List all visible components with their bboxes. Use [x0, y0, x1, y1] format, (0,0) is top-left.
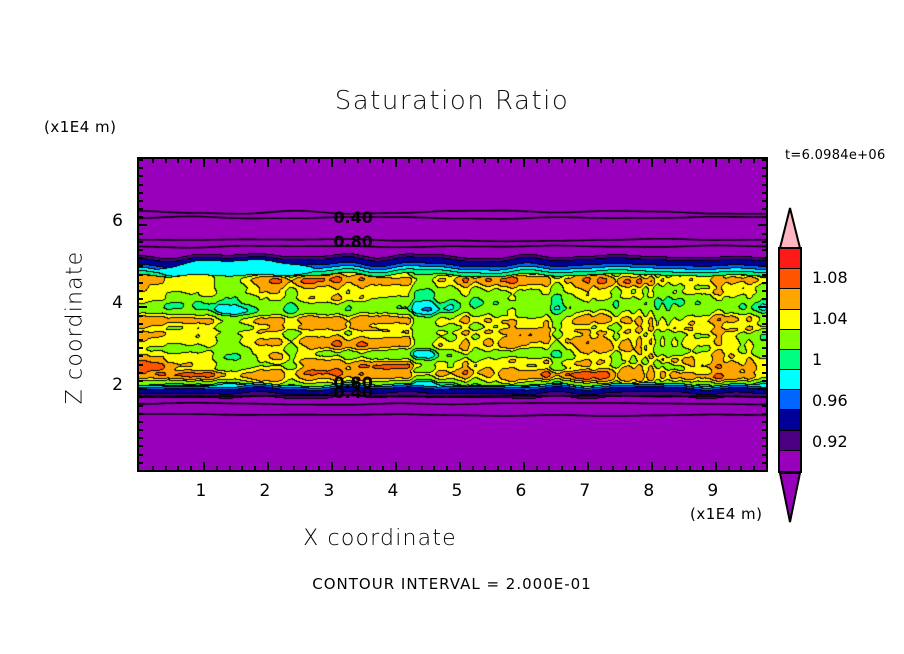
y-tick [762, 257, 767, 259]
y-tick [138, 175, 143, 177]
x-tick [766, 466, 768, 471]
x-tick [689, 466, 691, 471]
y-tick [138, 355, 143, 357]
x-tick [395, 462, 397, 471]
y-tick [762, 175, 767, 177]
colorbar-tick-label: 1.04 [812, 309, 848, 328]
x-tick-label: 6 [501, 481, 541, 501]
x-tick [523, 462, 525, 471]
y-tick [138, 437, 143, 439]
x-tick [318, 158, 320, 163]
x-tick [446, 158, 448, 163]
y-tick [762, 159, 767, 161]
x-tick [612, 158, 614, 163]
x-tick [459, 462, 461, 471]
y-tick [762, 364, 767, 366]
y-tick [138, 364, 143, 366]
y-tick [762, 290, 767, 292]
colorbar-over-arrow [778, 207, 802, 247]
x-tick [574, 466, 576, 471]
y-tick [138, 290, 143, 292]
x-tick [293, 158, 295, 163]
y-tick [762, 233, 767, 235]
colorbar-tick-label: 0.96 [812, 391, 848, 410]
y-tick [138, 200, 143, 202]
y-tick [138, 405, 143, 407]
colorbar-band [780, 431, 800, 451]
page-title: Saturation Ratio [0, 86, 904, 116]
x-tick [152, 158, 154, 163]
x-tick [421, 158, 423, 163]
x-tick [152, 466, 154, 471]
contour-interval-caption: CONTOUR INTERVAL = 2.000E-01 [0, 575, 904, 593]
y-tick [138, 396, 143, 398]
x-tick [190, 158, 192, 163]
x-tick [561, 158, 563, 163]
contour-plot-area[interactable]: 0.400.800.800.40 [137, 157, 768, 472]
x-tick [369, 466, 371, 471]
x-tick [753, 466, 755, 471]
x-axis-units-label: (x1E4 m) [690, 505, 763, 523]
x-tick [357, 466, 359, 471]
y-tick [762, 323, 767, 325]
x-tick [203, 462, 205, 471]
y-tick [762, 167, 767, 169]
y-tick [138, 233, 143, 235]
x-tick [728, 466, 730, 471]
y-tick [138, 216, 143, 218]
x-tick [497, 466, 499, 471]
x-tick [536, 158, 538, 163]
x-tick [587, 158, 589, 167]
x-tick [523, 158, 525, 167]
colorbar-band [780, 249, 800, 269]
y-tick [138, 413, 143, 415]
x-tick [638, 158, 640, 163]
x-tick [229, 466, 231, 471]
x-tick [382, 466, 384, 471]
y-tick [138, 380, 143, 382]
x-tick [216, 158, 218, 163]
y-tick [138, 224, 147, 226]
x-tick [715, 462, 717, 471]
y-tick [762, 437, 767, 439]
colorbar-band [780, 289, 800, 309]
x-tick [472, 466, 474, 471]
y-tick [762, 274, 767, 276]
over-arrow-icon [778, 207, 802, 249]
x-tick [331, 158, 333, 167]
x-tick [497, 158, 499, 163]
x-tick [715, 158, 717, 167]
y-tick [762, 249, 767, 251]
y-tick [138, 323, 143, 325]
x-tick [753, 158, 755, 163]
x-tick-label: 2 [245, 481, 285, 501]
x-tick [548, 466, 550, 471]
y-tick [138, 184, 143, 186]
y-tick [762, 372, 767, 374]
y-tick [762, 405, 767, 407]
x-tick [165, 158, 167, 163]
x-tick [664, 466, 666, 471]
y-tick [138, 298, 143, 300]
x-tick [190, 466, 192, 471]
y-tick [138, 429, 143, 431]
x-tick [318, 466, 320, 471]
y-tick [762, 315, 767, 317]
y-tick [762, 347, 767, 349]
colorbar-tick-label: 0.92 [812, 432, 848, 451]
y-tick-label: 6 [95, 211, 123, 231]
saturation-field-heatmap [139, 159, 766, 470]
x-tick-label: 5 [437, 481, 477, 501]
y-tick [138, 274, 143, 276]
x-tick [369, 158, 371, 163]
x-tick [766, 158, 768, 163]
x-tick [241, 466, 243, 471]
y-tick [762, 241, 767, 243]
y-tick [138, 257, 143, 259]
y-tick [762, 331, 767, 333]
x-tick [267, 462, 269, 471]
y-tick [762, 298, 767, 300]
x-tick [472, 158, 474, 163]
x-tick [433, 158, 435, 163]
y-tick [762, 429, 767, 431]
y-tick [138, 282, 143, 284]
x-axis-title: X coordinate [0, 526, 760, 551]
x-tick [638, 466, 640, 471]
x-tick [484, 158, 486, 163]
y-tick [138, 454, 143, 456]
x-tick [229, 158, 231, 163]
x-tick [305, 158, 307, 163]
x-tick [357, 158, 359, 163]
y-tick [138, 339, 143, 341]
contour-value-label: 0.80 [333, 232, 372, 251]
x-tick [600, 158, 602, 163]
x-tick [548, 158, 550, 163]
x-tick [574, 158, 576, 163]
x-tick [510, 466, 512, 471]
colorbar-bands [778, 247, 802, 473]
x-tick [561, 466, 563, 471]
y-axis-units-label: (x1E4 m) [44, 118, 117, 136]
y-tick [762, 413, 767, 415]
x-tick [433, 466, 435, 471]
y-tick [762, 462, 767, 464]
x-tick-label: 1 [181, 481, 221, 501]
x-tick [408, 158, 410, 163]
y-tick [138, 249, 143, 251]
x-tick [740, 158, 742, 163]
y-tick [762, 216, 767, 218]
colorbar-band [780, 330, 800, 350]
x-tick [689, 158, 691, 163]
x-tick [446, 466, 448, 471]
x-tick [676, 466, 678, 471]
y-tick-label: 4 [95, 293, 123, 313]
y-tick [758, 388, 767, 390]
y-tick [762, 192, 767, 194]
x-tick [740, 466, 742, 471]
y-tick [138, 208, 143, 210]
y-tick [762, 208, 767, 210]
x-tick [280, 466, 282, 471]
x-tick [216, 466, 218, 471]
colorbar-tick-label: 1 [812, 350, 822, 369]
x-tick [459, 158, 461, 167]
x-tick-label: 7 [565, 481, 605, 501]
y-tick [762, 454, 767, 456]
y-tick [138, 347, 143, 349]
contour-value-label: 0.40 [333, 383, 372, 402]
colorbar-band [780, 269, 800, 289]
x-tick [344, 158, 346, 163]
colorbar-under-arrow [778, 471, 802, 523]
y-tick [762, 396, 767, 398]
x-tick [702, 158, 704, 163]
time-annotation: t=6.0984e+06 [785, 148, 886, 163]
x-tick-label: 4 [373, 481, 413, 501]
x-tick [241, 158, 243, 163]
x-tick [728, 158, 730, 163]
y-tick [138, 306, 147, 308]
y-tick [762, 265, 767, 267]
colorbar-band [780, 350, 800, 370]
y-tick [762, 200, 767, 202]
colorbar-band [780, 310, 800, 330]
x-tick [177, 466, 179, 471]
x-tick [651, 462, 653, 471]
y-tick [138, 331, 143, 333]
x-tick [254, 466, 256, 471]
x-tick [305, 466, 307, 471]
x-tick [625, 158, 627, 163]
y-tick [762, 380, 767, 382]
x-tick [267, 158, 269, 167]
colorbar-band [780, 370, 800, 390]
x-tick [177, 158, 179, 163]
y-tick [762, 421, 767, 423]
x-tick [676, 158, 678, 163]
y-tick-label: 2 [95, 375, 123, 395]
x-tick [612, 466, 614, 471]
y-tick [762, 445, 767, 447]
y-tick [138, 421, 143, 423]
colorbar-tick-label: 1.08 [812, 268, 848, 287]
y-axis-title: Z coordinate [63, 208, 88, 448]
colorbar-band [780, 410, 800, 430]
colorbar-band [780, 390, 800, 410]
y-tick [138, 167, 143, 169]
x-tick [587, 462, 589, 471]
x-tick-label: 8 [629, 481, 669, 501]
y-tick [762, 184, 767, 186]
x-tick [510, 158, 512, 163]
x-tick [421, 466, 423, 471]
y-tick [762, 282, 767, 284]
x-tick [600, 466, 602, 471]
x-tick [293, 466, 295, 471]
x-tick [382, 158, 384, 163]
x-tick [651, 158, 653, 167]
x-tick [254, 158, 256, 163]
x-tick [331, 462, 333, 471]
x-tick [165, 466, 167, 471]
colorbar-band [780, 451, 800, 471]
x-tick [280, 158, 282, 163]
y-tick [138, 192, 143, 194]
y-tick [138, 372, 143, 374]
x-tick [203, 158, 205, 167]
y-tick [762, 355, 767, 357]
y-tick [138, 445, 143, 447]
y-tick [138, 241, 143, 243]
y-tick [762, 339, 767, 341]
x-tick [484, 466, 486, 471]
x-tick [408, 466, 410, 471]
x-tick [536, 466, 538, 471]
contour-value-label: 0.40 [333, 208, 372, 227]
y-tick [138, 462, 143, 464]
x-tick [702, 466, 704, 471]
x-tick-label: 9 [693, 481, 733, 501]
under-arrow-icon [778, 471, 802, 523]
y-tick [758, 306, 767, 308]
y-tick [138, 265, 143, 267]
y-tick [138, 159, 143, 161]
y-tick [138, 388, 147, 390]
x-tick [664, 158, 666, 163]
x-tick-label: 3 [309, 481, 349, 501]
y-tick [138, 315, 143, 317]
x-tick [344, 466, 346, 471]
x-tick [625, 466, 627, 471]
y-tick [758, 224, 767, 226]
colorbar-legend[interactable]: 1.081.0410.960.92 [778, 207, 802, 523]
x-tick [395, 158, 397, 167]
